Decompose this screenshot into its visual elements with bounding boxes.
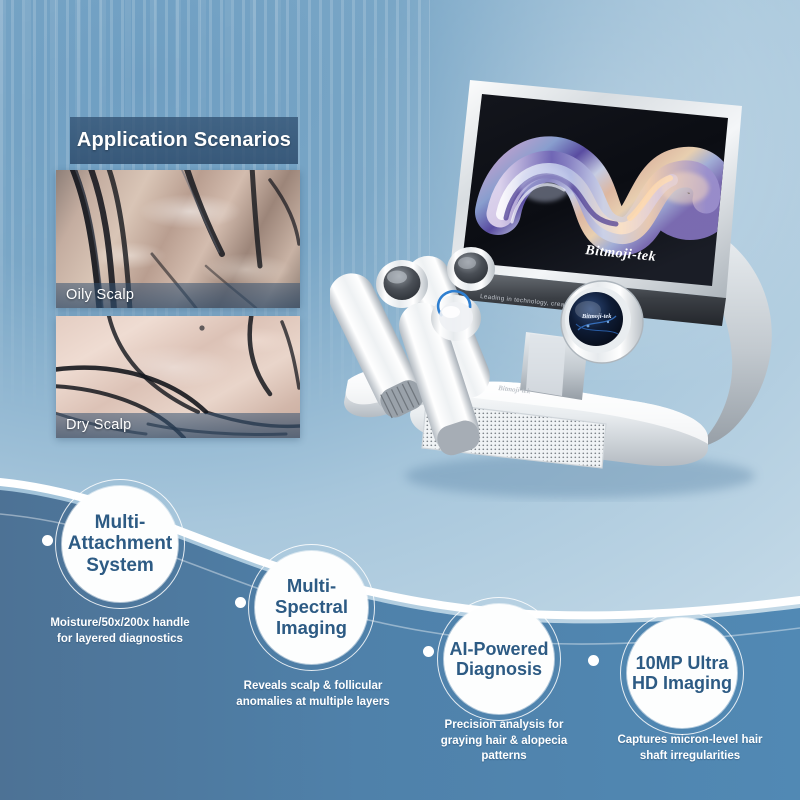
feature-dot-2 [235,597,246,608]
feature-dot-4 [588,655,599,666]
feature-caption-2: Reveals scalp & follicularanomalies at m… [228,679,398,710]
scenario-photo-oily-scalp: Oily Scalp [56,170,300,308]
feature-circle-3[interactable]: AI-PoweredDiagnosis [444,604,554,714]
feature-title-2: Multi-SpectralImaging [275,576,348,638]
feature-caption-3: Precision analysis forgraying hair & alo… [420,718,588,765]
oily-scalp-caption: Oily Scalp [56,283,300,308]
feature-circle-2[interactable]: Multi-SpectralImaging [255,551,368,664]
feature-title-3: AI-PoweredDiagnosis [449,639,548,679]
scenario-photo-dry-scalp: Dry Scalp [56,316,300,438]
feature-dot-3 [423,646,434,657]
application-scenarios-title: Application Scenarios [77,129,291,152]
feature-title-4: 10MP UltraHD Imaging [632,653,732,693]
lens-module: Bitmoji-tek [561,281,643,363]
feature-caption-4: Captures micron-level hairshaft irregula… [600,733,780,764]
lens-brand-text: Bitmoji-tek [581,313,612,320]
poster-canvas: Application Scenarios Oily Scalp [0,0,800,800]
feature-caption-1: Moisture/50x/200x handlefor layered diag… [30,616,210,647]
feature-title-1: Multi-AttachmentSystem [68,512,173,576]
feature-circle-4[interactable]: 10MP UltraHD Imaging [627,618,737,728]
feature-circle-1[interactable]: Multi-AttachmentSystem [62,486,178,602]
application-scenarios-header: Application Scenarios [70,117,298,164]
feature-dot-1 [42,535,53,546]
